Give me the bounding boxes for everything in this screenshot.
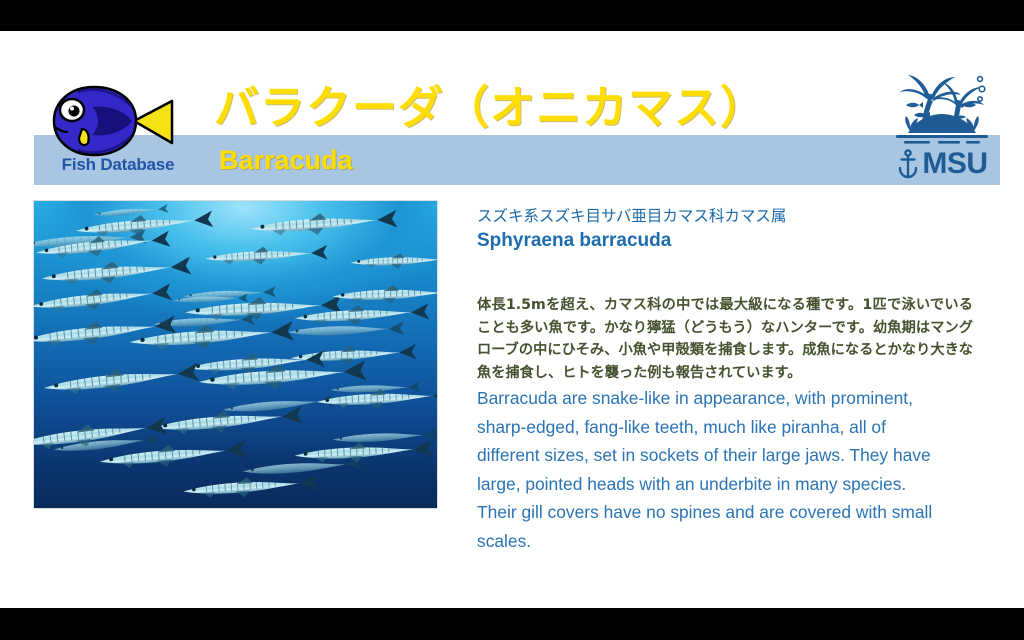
photo-barracuda-school — [34, 201, 437, 508]
fish-database-label: Fish Database — [38, 155, 198, 175]
blue-tang-fish-icon — [48, 85, 178, 157]
page-title-english: Barracuda — [219, 147, 353, 174]
species-scientific-name: Sphyraena barracuda — [477, 230, 671, 252]
letterbox-top — [0, 0, 1024, 30]
slide-canvas: Fish Database バラクーダ（オニカマス） Barracuda — [0, 31, 1024, 608]
description-english: Barracuda are snake-like in appearance, … — [477, 384, 947, 555]
description-japanese: 体長1.5mを超え、カマス科の中では最大級になる種です。1匹で泳いでいることも多… — [477, 294, 973, 384]
fish-database-logo[interactable]: Fish Database — [38, 85, 198, 185]
island-palm-tree-icon — [890, 65, 994, 147]
barracuda-photo — [33, 200, 438, 509]
msu-text: MSU — [922, 149, 987, 179]
taxonomy-japanese: スズキ系スズキ目サバ亜目カマス科カマス属 — [477, 204, 786, 226]
anchor-icon — [896, 149, 920, 179]
slide-root: Fish Database バラクーダ（オニカマス） Barracuda — [0, 0, 1024, 640]
msu-logo[interactable]: MSU — [884, 65, 1000, 181]
page-title-japanese: バラクーダ（オニカマス） — [214, 85, 766, 130]
msu-wordmark: MSU — [884, 147, 1000, 181]
letterbox-bottom — [0, 608, 1024, 640]
